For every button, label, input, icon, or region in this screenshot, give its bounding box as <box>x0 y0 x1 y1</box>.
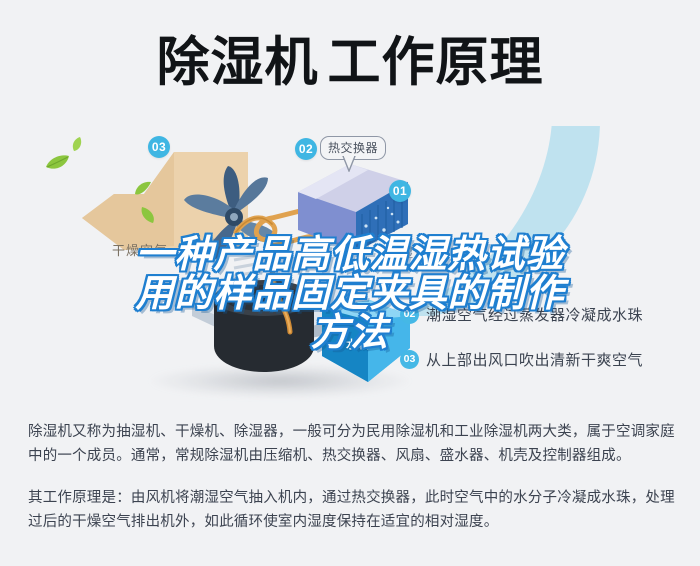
humid-air-label: 潮湿空气 <box>386 242 442 261</box>
page-title: 除湿机工作原理 <box>0 32 700 94</box>
title-part-2: 工作原理 <box>328 32 544 94</box>
legend-text-03: 从上部出风口吹出清新干爽空气 <box>426 349 643 370</box>
title-part-1: 除湿机 <box>157 32 319 94</box>
list-item: 03 从上部出风口吹出清新干爽空气 <box>400 349 700 370</box>
paragraph-1: 除湿机又称为抽湿机、干燥机、除湿器，一般可分为民用除湿机和工业除湿机两大类，属于… <box>28 420 678 468</box>
diagram-badge-02: 02 <box>295 138 317 160</box>
poster-root: 除湿机工作原理 <box>0 0 700 566</box>
leaf-icon <box>70 136 84 157</box>
leaf-icon <box>134 180 152 201</box>
callout-tail-icon <box>342 156 356 172</box>
legend-text-02: 潮湿空气经过蒸发器冷凝成水珠 <box>426 304 643 325</box>
legend-badge-02: 02 <box>400 305 419 324</box>
diagram-badge-01: 01 <box>389 180 411 202</box>
legend-list: 02 潮湿空气经过蒸发器冷凝成水珠 03 从上部出风口吹出清新干爽空气 <box>400 304 700 394</box>
dehumidifier-diagram: 水箱 03 02 01 热交换器 干燥空气 潮湿空气 02 潮湿空气经过蒸发器冷… <box>0 118 700 408</box>
diagram-badge-03: 03 <box>148 136 170 158</box>
water-tank-label: 水箱 <box>346 336 370 352</box>
paragraph-2: 其工作原理是：由风机将潮湿空气抽入机内，通过热交换器，此时空气中的水分子冷凝成水… <box>28 486 678 534</box>
body-copy: 除湿机又称为抽湿机、干燥机、除湿器，一般可分为民用除湿机和工业除湿机两大类，属于… <box>28 420 678 534</box>
dry-air-label: 干燥空气 <box>112 240 168 259</box>
legend-badge-03: 03 <box>400 350 419 369</box>
leaf-icon <box>44 154 70 177</box>
list-item: 02 潮湿空气经过蒸发器冷凝成水珠 <box>400 304 700 325</box>
leaf-icon <box>140 206 156 229</box>
